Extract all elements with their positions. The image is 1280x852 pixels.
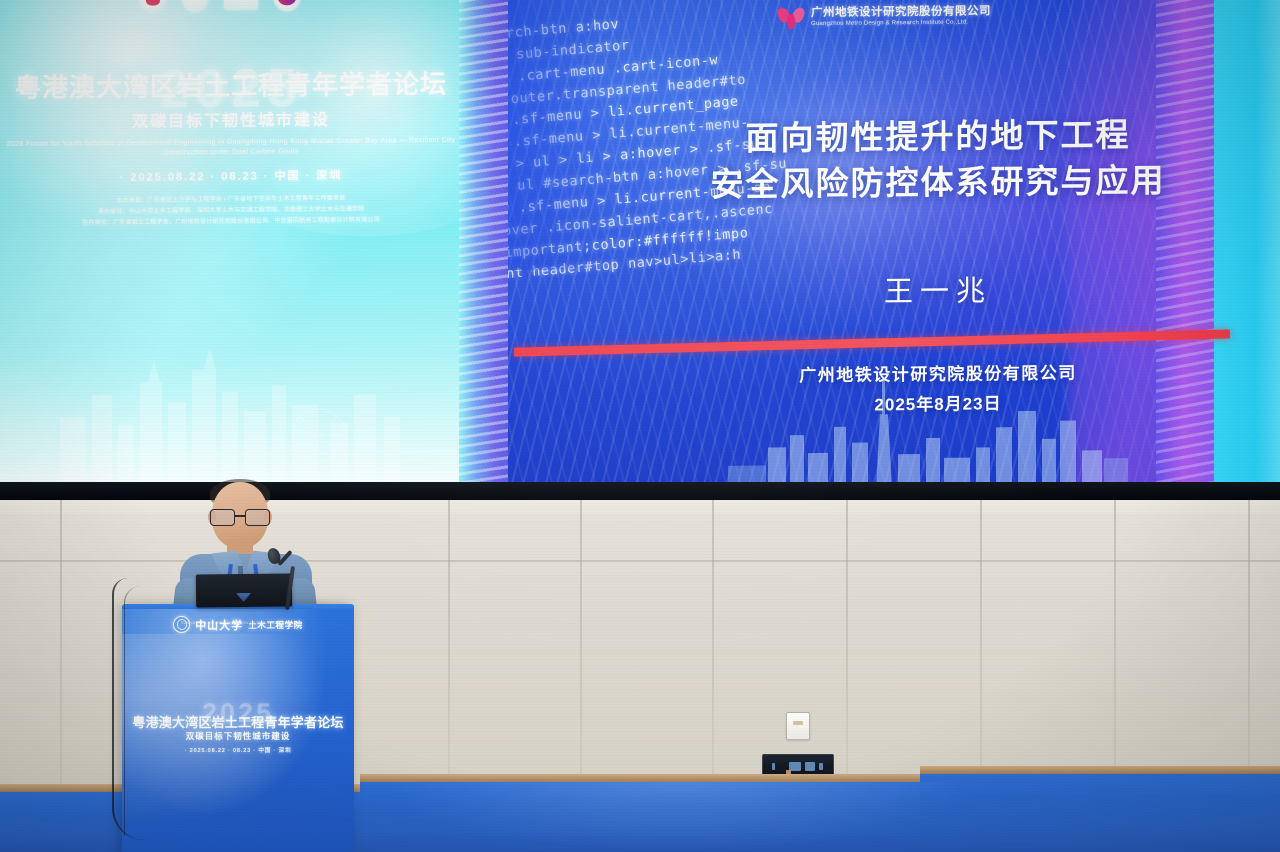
conference-photo: 2025 粤港澳大湾区岩土工程青年学者论坛 双碳目标下韧性城市建设 2026 F… [0, 0, 1280, 852]
poster-title: 粤港澳大湾区岩土工程青年学者论坛 [0, 70, 462, 103]
screen-transition-band [459, 0, 511, 490]
slide-title: 面向韧性提升的地下工程 安全风险防控体系研究与应用 [658, 111, 1218, 207]
sponsor-logo-4-icon [274, 0, 300, 11]
lectern-title: 粤港澳大湾区岩土工程青年学者论坛 [122, 712, 354, 731]
metro-logo-name-en: Guangzhou Metro Design & Research Instit… [811, 20, 991, 28]
lectern-date: · 2025.08.22 · 08.23 · 中国 · 深圳 [122, 746, 354, 754]
sponsor-logo-strip [140, 0, 360, 15]
metro-institute-logo: 广州地铁设计研究院股份有限公司 Guangzhou Metro Design &… [778, 3, 991, 29]
wall-vertical-seam [60, 495, 62, 805]
slide-title-line2: 安全风险防控体系研究与应用 [658, 157, 1218, 208]
slide-speaker-name: 王一兆 [658, 265, 1218, 312]
wall-vertical-seam [448, 495, 450, 805]
slide-title-line1: 面向韧性提升的地下工程 [658, 111, 1218, 162]
laptop-logo-icon [236, 593, 251, 602]
slide-magenta-band [1156, 0, 1218, 486]
floor-sheen [380, 782, 980, 852]
wall-vertical-seam [580, 495, 582, 805]
poster-organizers: 主办单位：广东省岩土力学与工程学会 / 广东省地下空间与土木工程青年工作委员会 … [0, 192, 462, 230]
glasses-icon [208, 509, 272, 524]
poster-subtitle-en: 2026 Forum for Youth Scholars of Geotech… [0, 135, 462, 160]
lectern-cable [124, 586, 141, 836]
slide-skyline-graphic [728, 366, 1128, 490]
panel-led [819, 763, 823, 770]
sponsor-logo-2-icon [182, 0, 208, 12]
poster-date: · 2025.08.22 · 08.23 · 中国 · 深圳 [0, 165, 462, 185]
poster-skyline-graphic [0, 294, 462, 488]
metro-logo-text: 广州地铁设计研究院股份有限公司 Guangzhou Metro Design &… [811, 5, 991, 27]
presenter-laptop[interactable] [196, 573, 292, 607]
sponsor-logo-1-icon [140, 0, 166, 13]
wall-outlet-plate[interactable] [786, 712, 810, 740]
lectern-subtitle: 双碳目标下韧性城市建设 [122, 730, 354, 742]
metro-logo-name-cn: 广州地铁设计研究院股份有限公司 [811, 5, 991, 19]
university-name-en: SUN YAT-SEN UNIVERSITY SCHOOL OF CIVIL E… [122, 621, 354, 625]
panel-led [772, 763, 775, 770]
metro-logo-icon [778, 5, 804, 29]
poster-text-block: 粤港澳大湾区岩土工程青年学者论坛 双碳目标下韧性城市建设 2026 Forum … [0, 70, 462, 230]
panel-led [805, 762, 815, 771]
wall-vertical-seam [1114, 495, 1116, 805]
sponsor-logo-3-icon [224, 0, 258, 10]
wall-vertical-seam [1248, 495, 1250, 805]
poster-subtitle: 双碳目标下韧性城市建设 [0, 104, 462, 132]
forum-poster-panel: 2025 粤港澳大湾区岩土工程青年学者论坛 双碳目标下韧性城市建设 2026 F… [0, 0, 462, 488]
wall-vertical-seam [712, 495, 714, 805]
wall-vertical-seam [980, 495, 982, 805]
presentation-title-slide: search-btn a:hov .sf sub-indicatorent .c… [508, 0, 1280, 492]
led-stage-screen: 2025 粤港澳大湾区岩土工程青年学者论坛 双碳目标下韧性城市建设 2026 F… [0, 0, 1280, 500]
slide-cyan-band [1214, 0, 1280, 485]
lectern: 中山大学 土木工程学院 SUN YAT-SEN UNIVERSITY SCHOO… [122, 604, 354, 852]
wall-vertical-seam [846, 495, 848, 805]
